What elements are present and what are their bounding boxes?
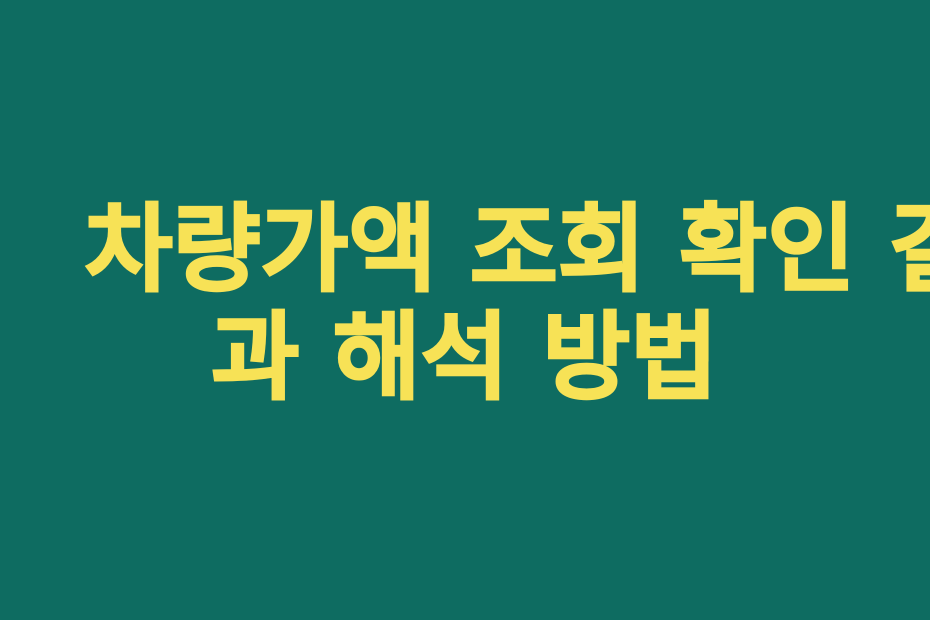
title-line-2: 과 해석 방법 bbox=[85, 304, 845, 412]
page-title: 차량가액 조회 확인 결 과 해석 방법 bbox=[85, 196, 845, 412]
title-line-1: 차량가액 조회 확인 결 bbox=[85, 196, 845, 304]
title-thumbnail-card: 차량가액 조회 확인 결 과 해석 방법 bbox=[0, 0, 930, 620]
